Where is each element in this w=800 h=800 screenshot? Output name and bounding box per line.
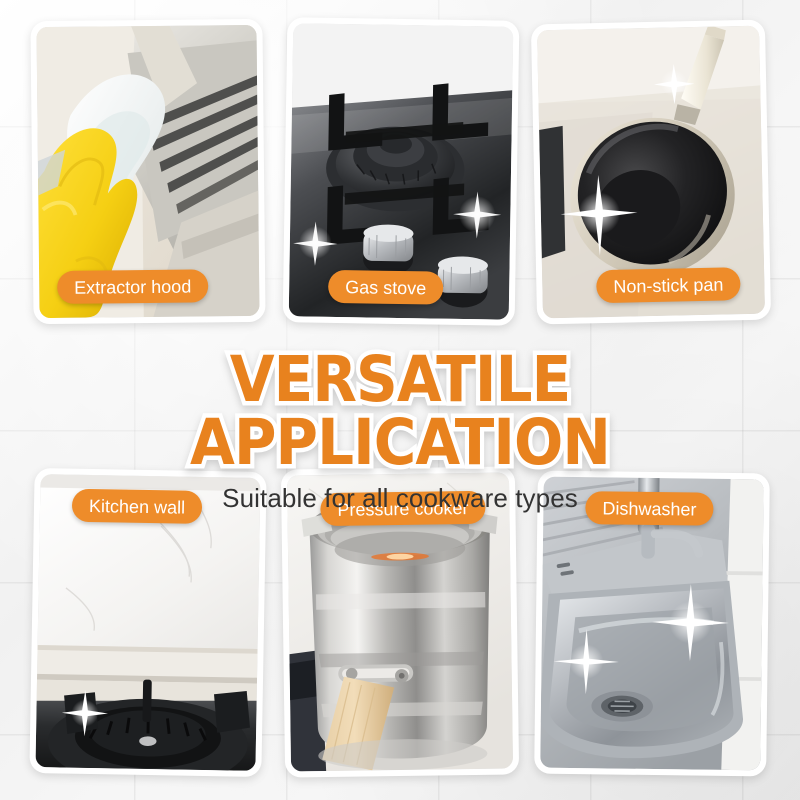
badge-non-stick-pan[interactable]: Non-stick pan [596,267,741,303]
card-non-stick-pan[interactable]: Non-stick pan [531,20,771,325]
card-gas-stove[interactable]: Gas stove [283,17,520,326]
card-kitchen-wall[interactable]: Kitchen wall [29,468,266,777]
page-subtitle: Suitable for all cookware types [0,483,800,514]
card-extractor-hood[interactable]: Extractor hood [30,19,265,324]
badge-extractor-hood[interactable]: Extractor hood [57,269,208,304]
card-dishwasher[interactable]: Dishwasher [534,471,770,777]
headline-block: VERSATILE APPLICATION Suitable for all c… [0,348,800,514]
page-title: VERSATILE APPLICATION [32,348,768,474]
promo-banner: Extractor hood [0,0,800,800]
badge-gas-stove[interactable]: Gas stove [328,270,444,305]
